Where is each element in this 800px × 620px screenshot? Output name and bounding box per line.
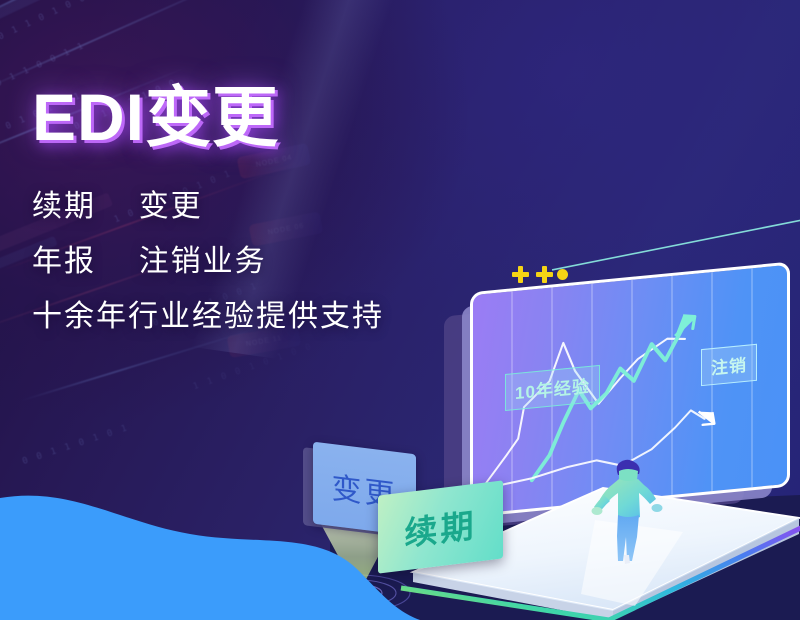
edi-promo-banner: 0 1 0 0 1 1 0 1 0 0 1 0 0 1 1 0 0 1 1 0 …	[0, 0, 800, 620]
plus-icon	[536, 266, 553, 283]
person-figure	[588, 455, 668, 565]
plus-icon	[512, 266, 529, 283]
tag-cancel: 注销	[701, 344, 757, 386]
dot-icon	[557, 269, 568, 280]
blue-wave-decoration	[0, 460, 420, 620]
